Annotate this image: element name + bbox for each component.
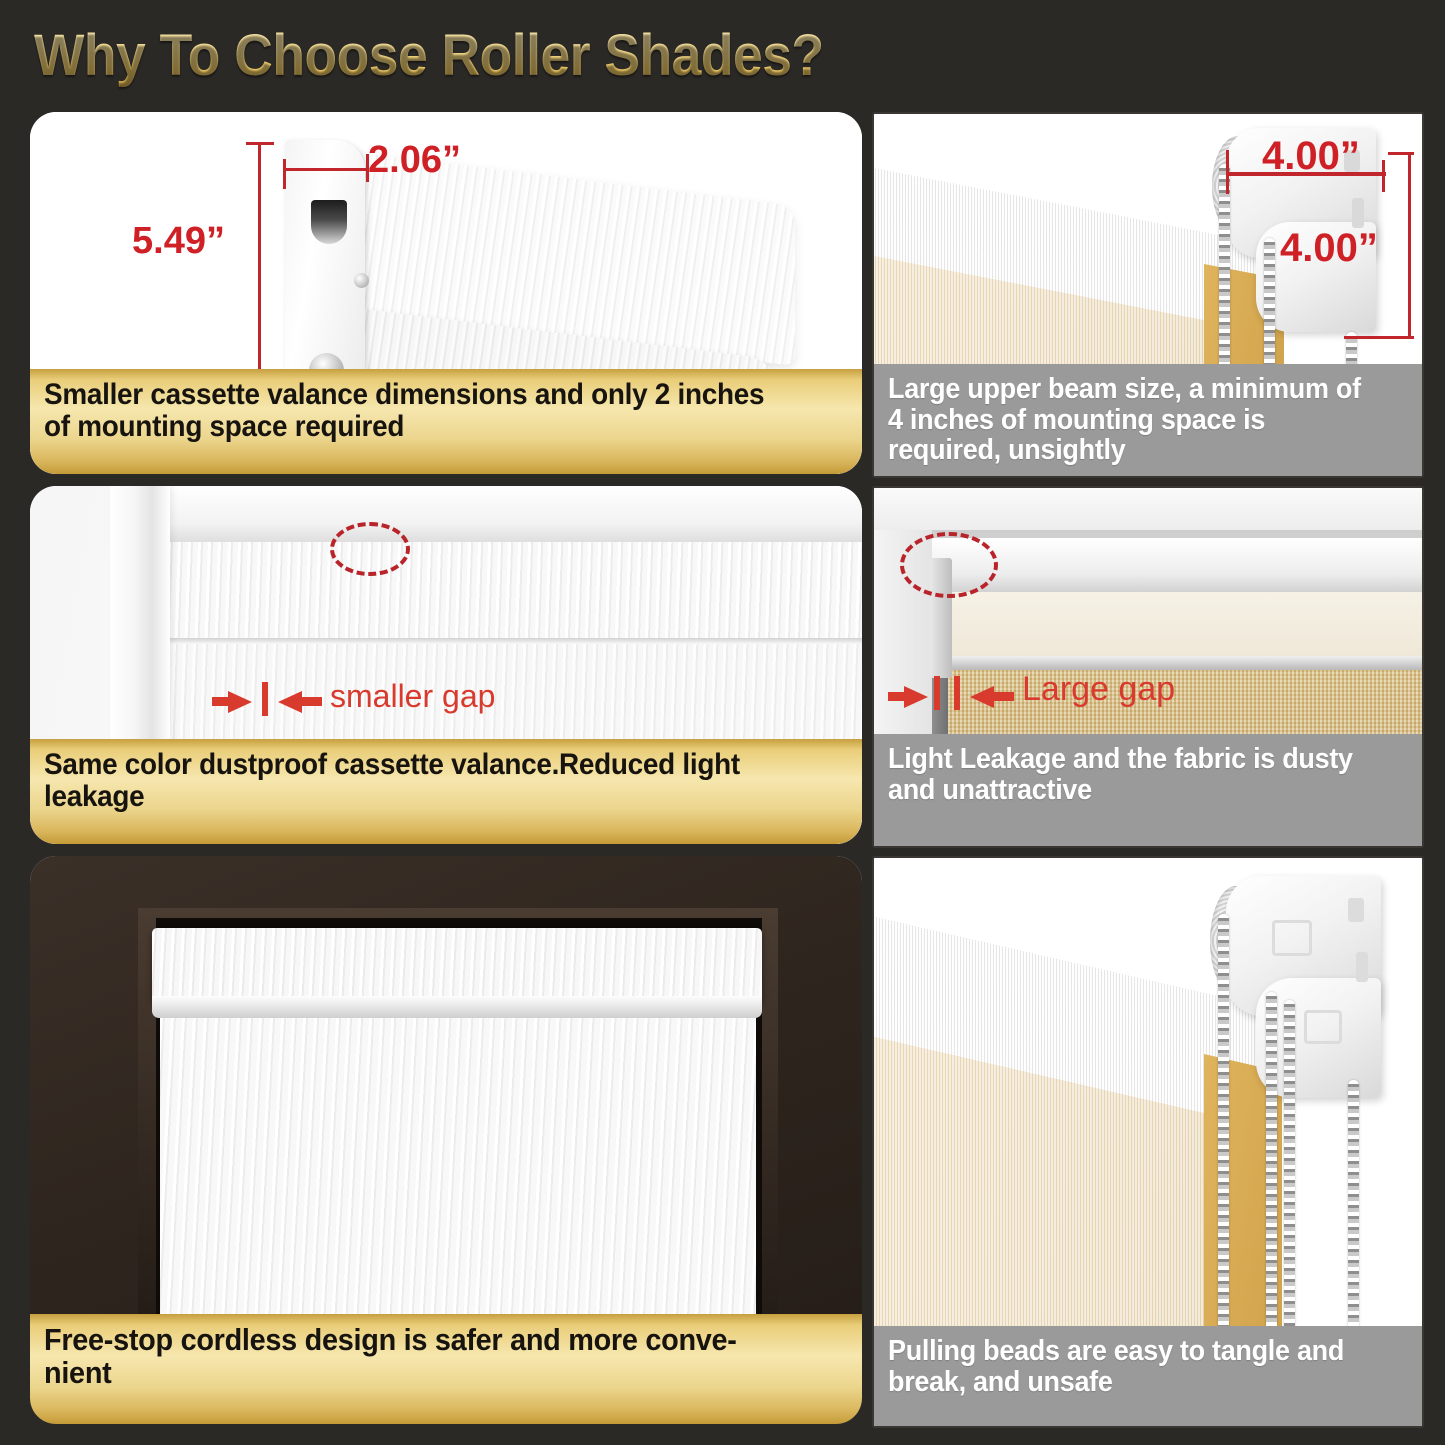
highlight-ellipse-gap <box>900 532 998 598</box>
dimension-label-height: 5.49” <box>132 220 225 263</box>
caption-text: Pulling beads are easy to tangle and bre… <box>888 1336 1372 1397</box>
arrow-right-tail <box>888 692 908 701</box>
caption-con-beam-size: Large upper beam size, a minimum of 4 in… <box>874 364 1422 476</box>
dimension-tick-right <box>1382 160 1385 192</box>
dimension-line-height <box>1408 152 1411 338</box>
caption-text: Light Leakage and the fabric is dusty an… <box>888 744 1372 805</box>
dimension-label-width: 2.06” <box>368 139 461 182</box>
dimension-label-height: 4.00” <box>1280 226 1378 271</box>
panel-pro-cassette-size[interactable]: 5.49” 2.06” Smaller cassette valance dim… <box>30 112 862 474</box>
gap-label-smaller: smaller gap <box>330 678 495 715</box>
panel-con-beam-size[interactable]: 4.00” 4.00” Large upper beam size, a min… <box>872 112 1424 478</box>
page-title: Why To Choose Roller Shades? <box>34 22 824 89</box>
caption-text: Same color dustproof cassette valance.Re… <box>44 749 792 813</box>
panel-con-pulling-beads[interactable]: Pulling beads are easy to tangle and bre… <box>872 856 1424 1428</box>
dimension-tick-bottom <box>1344 336 1414 339</box>
arrow-left-icon <box>970 686 994 708</box>
comparison-grid: 5.49” 2.06” Smaller cassette valance dim… <box>0 104 1445 1434</box>
caption-text: Smaller cassette valance dimensions and … <box>44 379 792 443</box>
panel-pro-dustproof-valance[interactable]: smaller gap Same color dustproof cassett… <box>30 486 862 844</box>
dimension-label-width: 4.00” <box>1262 134 1360 179</box>
dimension-line-width <box>283 168 369 171</box>
arrow-left-tail <box>992 692 1014 701</box>
dimension-tick-top <box>1388 152 1414 155</box>
arrow-left-tail <box>300 697 322 706</box>
caption-pro-cassette-size: Smaller cassette valance dimensions and … <box>30 369 862 474</box>
caption-pro-dustproof-valance: Same color dustproof cassette valance.Re… <box>30 739 862 844</box>
highlight-ellipse-gap <box>330 522 410 576</box>
caption-con-pulling-beads: Pulling beads are easy to tangle and bre… <box>874 1326 1422 1426</box>
caption-text: Large upper beam size, a minimum of 4 in… <box>888 374 1372 466</box>
gap-marker-right <box>954 676 960 710</box>
gap-marker-left <box>934 676 940 710</box>
panel-pro-cordless-design[interactable]: Free-stop cordless design is safer and m… <box>30 856 862 1424</box>
panel-con-light-leakage[interactable]: Large gap Light Leakage and the fabric i… <box>872 486 1424 848</box>
gap-label-large: Large gap <box>1022 670 1175 709</box>
caption-text-line2: nient <box>44 1357 792 1390</box>
dimension-tick-left <box>283 159 286 189</box>
dimension-tick-top <box>246 142 274 145</box>
caption-con-light-leakage: Light Leakage and the fabric is dusty an… <box>874 734 1422 846</box>
arrow-right-tail <box>212 697 234 706</box>
arrow-left-icon <box>278 691 302 713</box>
caption-text-line1: Free-stop cordless design is safer and m… <box>44 1324 792 1357</box>
gap-marker <box>262 682 268 716</box>
caption-pro-cordless-design: Free-stop cordless design is safer and m… <box>30 1314 862 1424</box>
